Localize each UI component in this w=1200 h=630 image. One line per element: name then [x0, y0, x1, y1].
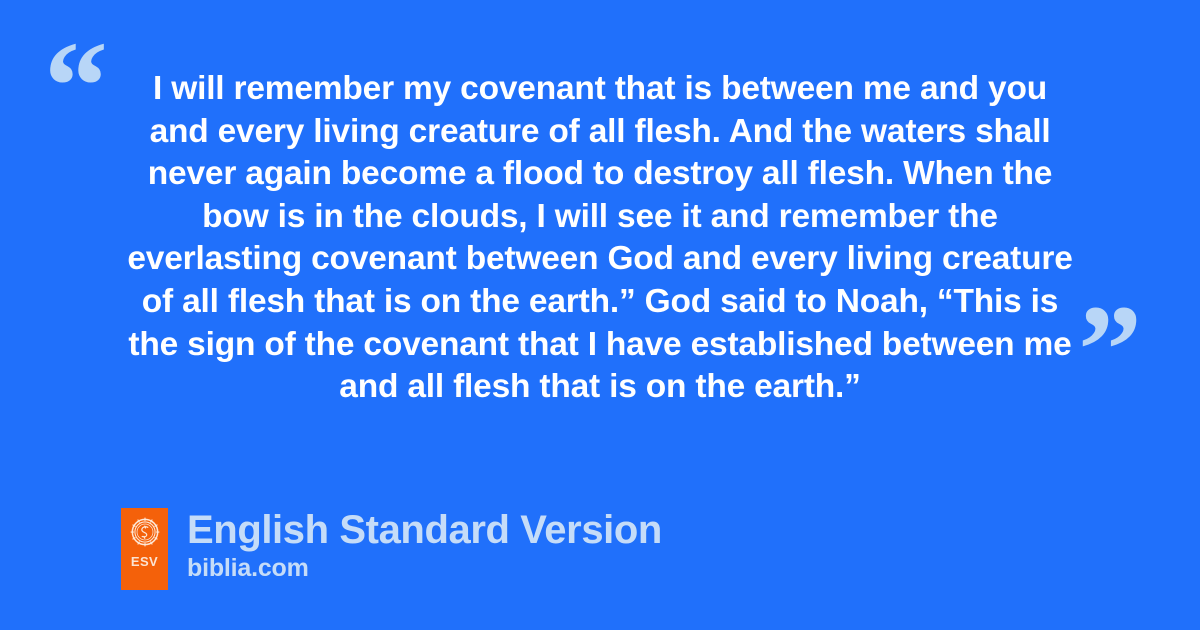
opening-quote-mark-icon: “ [44, 22, 108, 150]
quote-line: the sign of the covenant that I have est… [100, 324, 1100, 367]
quote-line: of all flesh that is on the earth.” God … [100, 281, 1100, 324]
quote-line: never again become a flood to destroy al… [100, 153, 1100, 196]
esv-seal-icon [130, 517, 160, 547]
quote-line: everlasting covenant between God and eve… [100, 238, 1100, 281]
closing-quote-mark-icon: ” [1078, 286, 1142, 414]
esv-logo-badge: ESV [121, 508, 168, 590]
quote-line: I will remember my covenant that is betw… [100, 68, 1100, 111]
esv-abbreviation-label: ESV [131, 555, 158, 568]
quote-text: I will remember my covenant that is betw… [100, 68, 1100, 409]
bible-version-name: English Standard Version [187, 508, 662, 552]
quote-region: “ I will remember my covenant that is be… [0, 0, 1200, 470]
site-url-label[interactable]: biblia.com [187, 554, 662, 582]
quote-line: and all flesh that is on the earth.” [100, 366, 1100, 409]
attribution-text: English Standard Version biblia.com [187, 508, 662, 582]
verse-card: “ I will remember my covenant that is be… [0, 0, 1200, 630]
attribution: ESV English Standard Version biblia.com [121, 508, 662, 590]
quote-line: bow is in the clouds, I will see it and … [100, 196, 1100, 239]
quote-line: and every living creature of all flesh. … [100, 111, 1100, 154]
